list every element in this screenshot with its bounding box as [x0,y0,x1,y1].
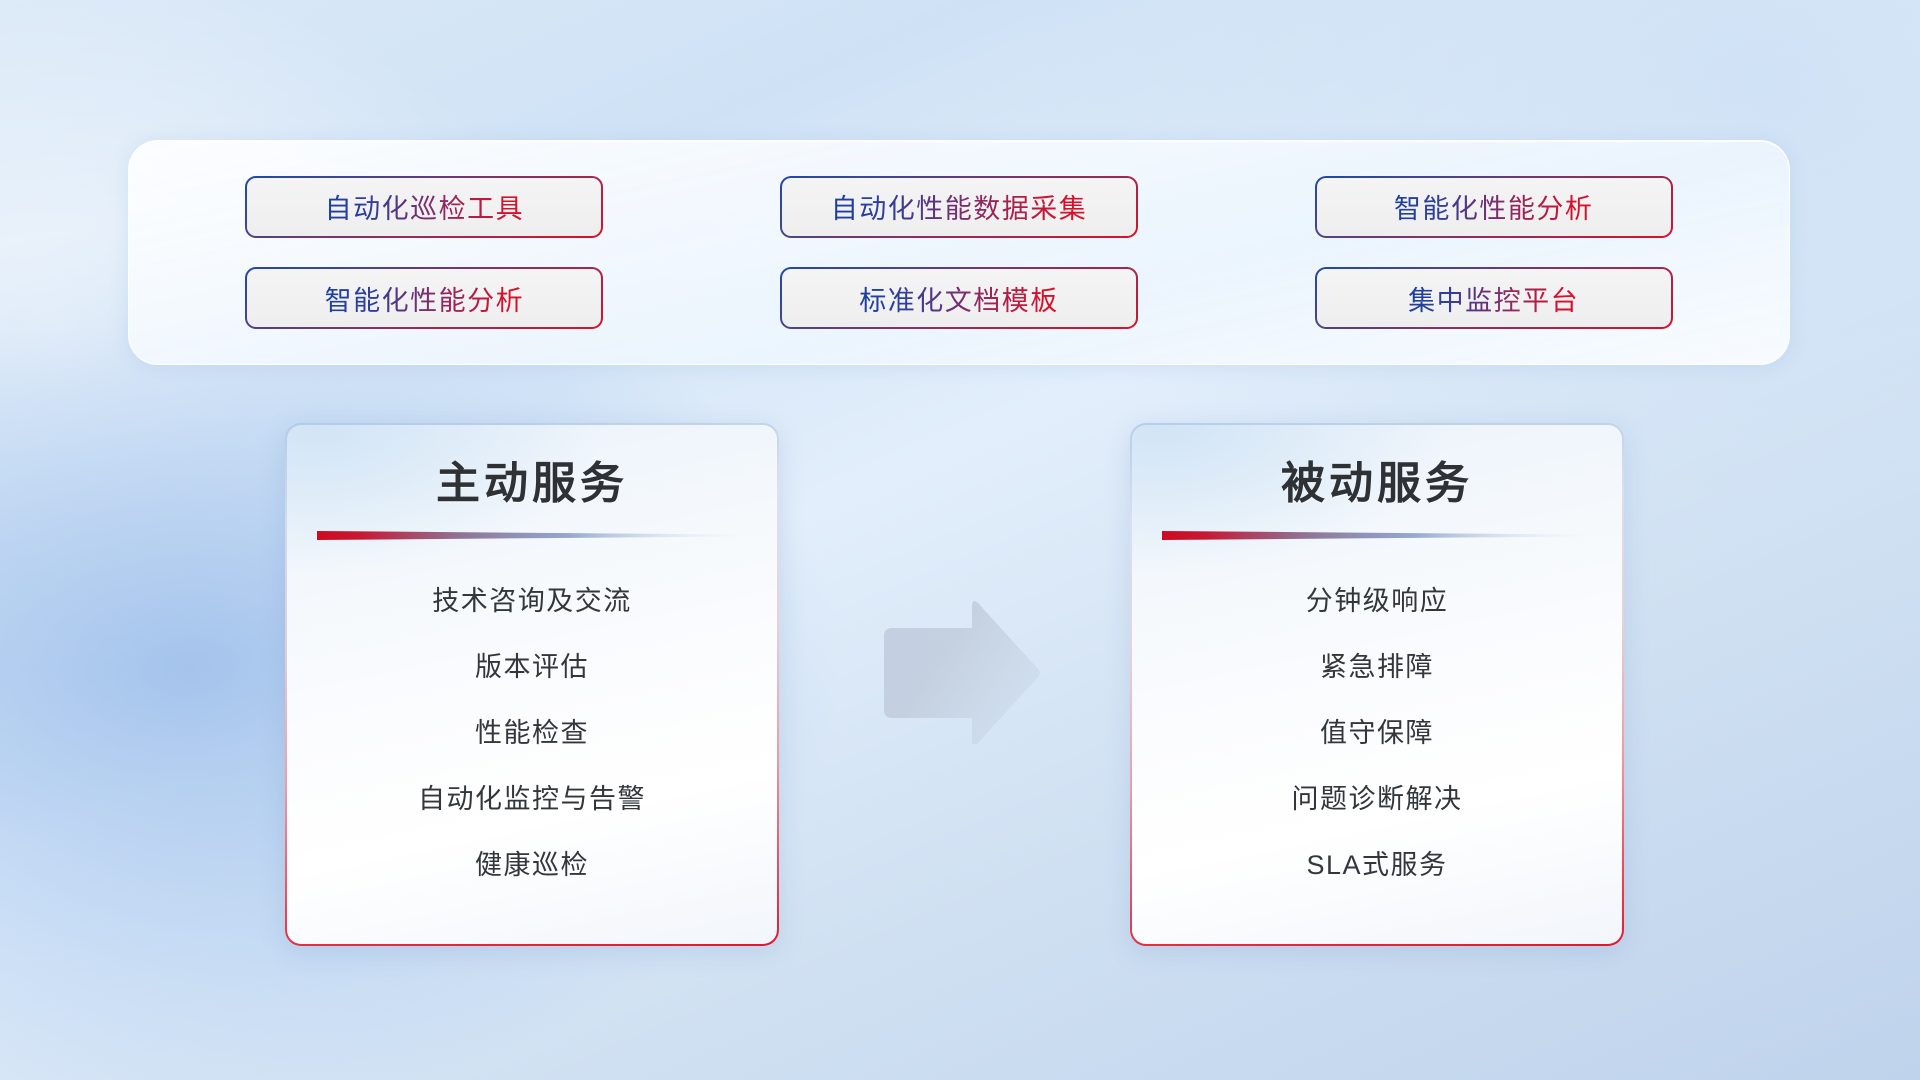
capability-pill[interactable]: 自动化性能数据采集 [780,176,1138,238]
right-arrow-icon [878,600,1042,744]
capability-pill-label: 智能化性能分析 [325,279,525,318]
capability-pills-panel: 自动化巡检工具 自动化性能数据采集 智能化性能分析 智能化性能分析 [128,140,1790,365]
capability-pill-label: 自动化巡检工具 [325,187,525,226]
list-item: 性能检查 [475,711,589,750]
capability-pill-surface: 集中监控平台 [1317,269,1671,327]
capability-pill-surface: 标准化文档模板 [782,269,1136,327]
capability-pill[interactable]: 智能化性能分析 [1315,176,1673,238]
service-card-list: 分钟级响应 紧急排障 值守保障 问题诊断解决 SLA式服务 [1132,565,1622,882]
capability-pill-label: 智能化性能分析 [1394,187,1594,226]
title-divider-icon [1162,529,1596,541]
list-item: SLA式服务 [1306,843,1447,882]
service-card-list: 技术咨询及交流 版本评估 性能检查 自动化监控与告警 健康巡检 [287,565,777,882]
capability-pill-surface: 自动化巡检工具 [247,178,601,236]
capability-pill-label: 集中监控平台 [1408,279,1579,318]
capability-pill-label: 自动化性能数据采集 [831,187,1088,226]
service-card-reactive[interactable]: 被动服务 分钟级响应 紧急排障 值守保障 [1130,423,1624,946]
list-item: 技术咨询及交流 [432,579,632,618]
capability-pill[interactable]: 智能化性能分析 [245,267,603,329]
list-item: 自动化监控与告警 [418,777,646,816]
list-item: 健康巡检 [475,843,589,882]
service-card-title: 被动服务 [1132,447,1622,511]
service-card-surface: 主动服务 技术咨询及交流 版本评估 性能检查 [287,425,777,944]
service-card-proactive[interactable]: 主动服务 技术咨询及交流 版本评估 性能检查 [285,423,779,946]
capability-pill[interactable]: 自动化巡检工具 [245,176,603,238]
capability-pill[interactable]: 标准化文档模板 [780,267,1138,329]
service-card-surface: 被动服务 分钟级响应 紧急排障 值守保障 [1132,425,1622,944]
list-item: 紧急排障 [1320,645,1434,684]
capability-pill-surface: 自动化性能数据采集 [782,178,1136,236]
list-item: 分钟级响应 [1306,579,1449,618]
list-item: 值守保障 [1320,711,1434,750]
list-item: 版本评估 [475,645,589,684]
capability-pill[interactable]: 集中监控平台 [1315,267,1673,329]
capability-pill-label: 标准化文档模板 [859,279,1059,318]
capability-pill-grid: 自动化巡检工具 自动化性能数据采集 智能化性能分析 智能化性能分析 [129,141,1789,364]
slide-canvas: 自动化巡检工具 自动化性能数据采集 智能化性能分析 智能化性能分析 [0,0,1920,1080]
title-divider-icon [317,529,751,541]
service-card-title: 主动服务 [287,447,777,511]
capability-pill-surface: 智能化性能分析 [247,269,601,327]
list-item: 问题诊断解决 [1292,777,1463,816]
capability-pill-surface: 智能化性能分析 [1317,178,1671,236]
